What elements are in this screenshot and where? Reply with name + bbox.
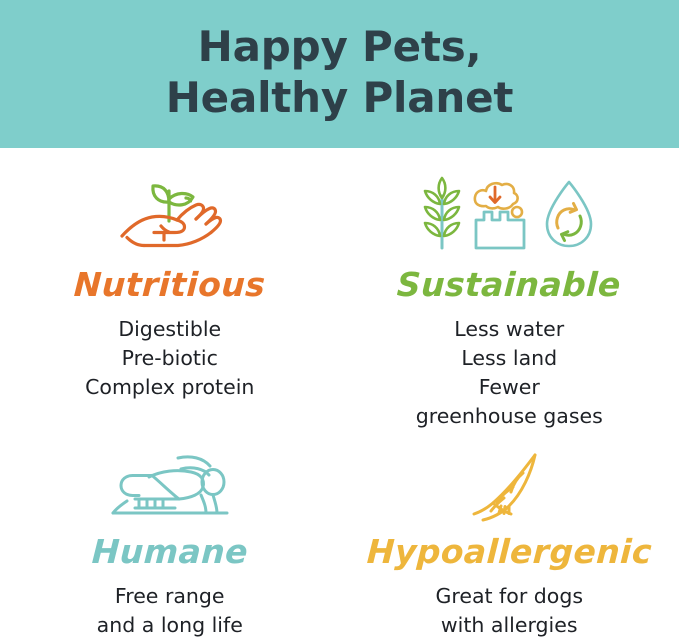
feature-body-line: with allergies <box>435 611 583 640</box>
feature-body-line: greenhouse gases <box>416 402 603 431</box>
feature-sustainable: Sustainable Less water Less land Fewer g… <box>340 148 679 435</box>
feature-body-line: Less water <box>416 315 603 344</box>
feature-hypoallergenic: Hypoallergenic Great for dogs with aller… <box>340 435 679 640</box>
feature-body-nutritious: Digestible Pre-biotic Complex protein <box>85 315 254 402</box>
page-title-line-1: Happy Pets, <box>166 21 514 72</box>
infographic-poster: Happy Pets, Healthy Planet <box>0 0 679 640</box>
hand-holding-sprout-icon <box>114 170 226 254</box>
header-band: Happy Pets, Healthy Planet <box>0 0 679 148</box>
feature-body-line: Great for dogs <box>435 582 583 611</box>
feature-grid: Nutritious Digestible Pre-biotic Complex… <box>0 148 679 640</box>
page-title-line-2: Healthy Planet <box>166 72 514 123</box>
feature-body-hypoallergenic: Great for dogs with allergies <box>435 582 583 640</box>
cricket-icon <box>105 445 235 523</box>
feature-body-sustainable: Less water Less land Fewer greenhouse ga… <box>416 315 603 431</box>
feature-body-humane: Free range and a long life <box>97 582 243 640</box>
feature-body-line: Fewer <box>416 373 603 402</box>
feature-heading-hypoallergenic: Hypoallergenic <box>366 535 653 568</box>
wheat-factory-waterdrop-icons <box>414 170 604 254</box>
feature-heading-nutritious: Nutritious <box>73 268 266 301</box>
feature-heading-humane: Humane <box>91 535 249 568</box>
feature-body-line: Complex protein <box>85 373 254 402</box>
feature-heading-sustainable: Sustainable <box>397 268 622 301</box>
feature-body-line: Less land <box>416 344 603 373</box>
feature-nutritious: Nutritious Digestible Pre-biotic Complex… <box>0 148 340 435</box>
feature-body-line: Digestible <box>85 315 254 344</box>
feature-humane: Humane Free range and a long life <box>0 435 340 640</box>
page-title: Happy Pets, Healthy Planet <box>166 21 514 123</box>
feature-body-line: Pre-biotic <box>85 344 254 373</box>
feature-body-line: and a long life <box>97 611 243 640</box>
feature-body-line: Free range <box>97 582 243 611</box>
feather-icon <box>453 443 565 525</box>
